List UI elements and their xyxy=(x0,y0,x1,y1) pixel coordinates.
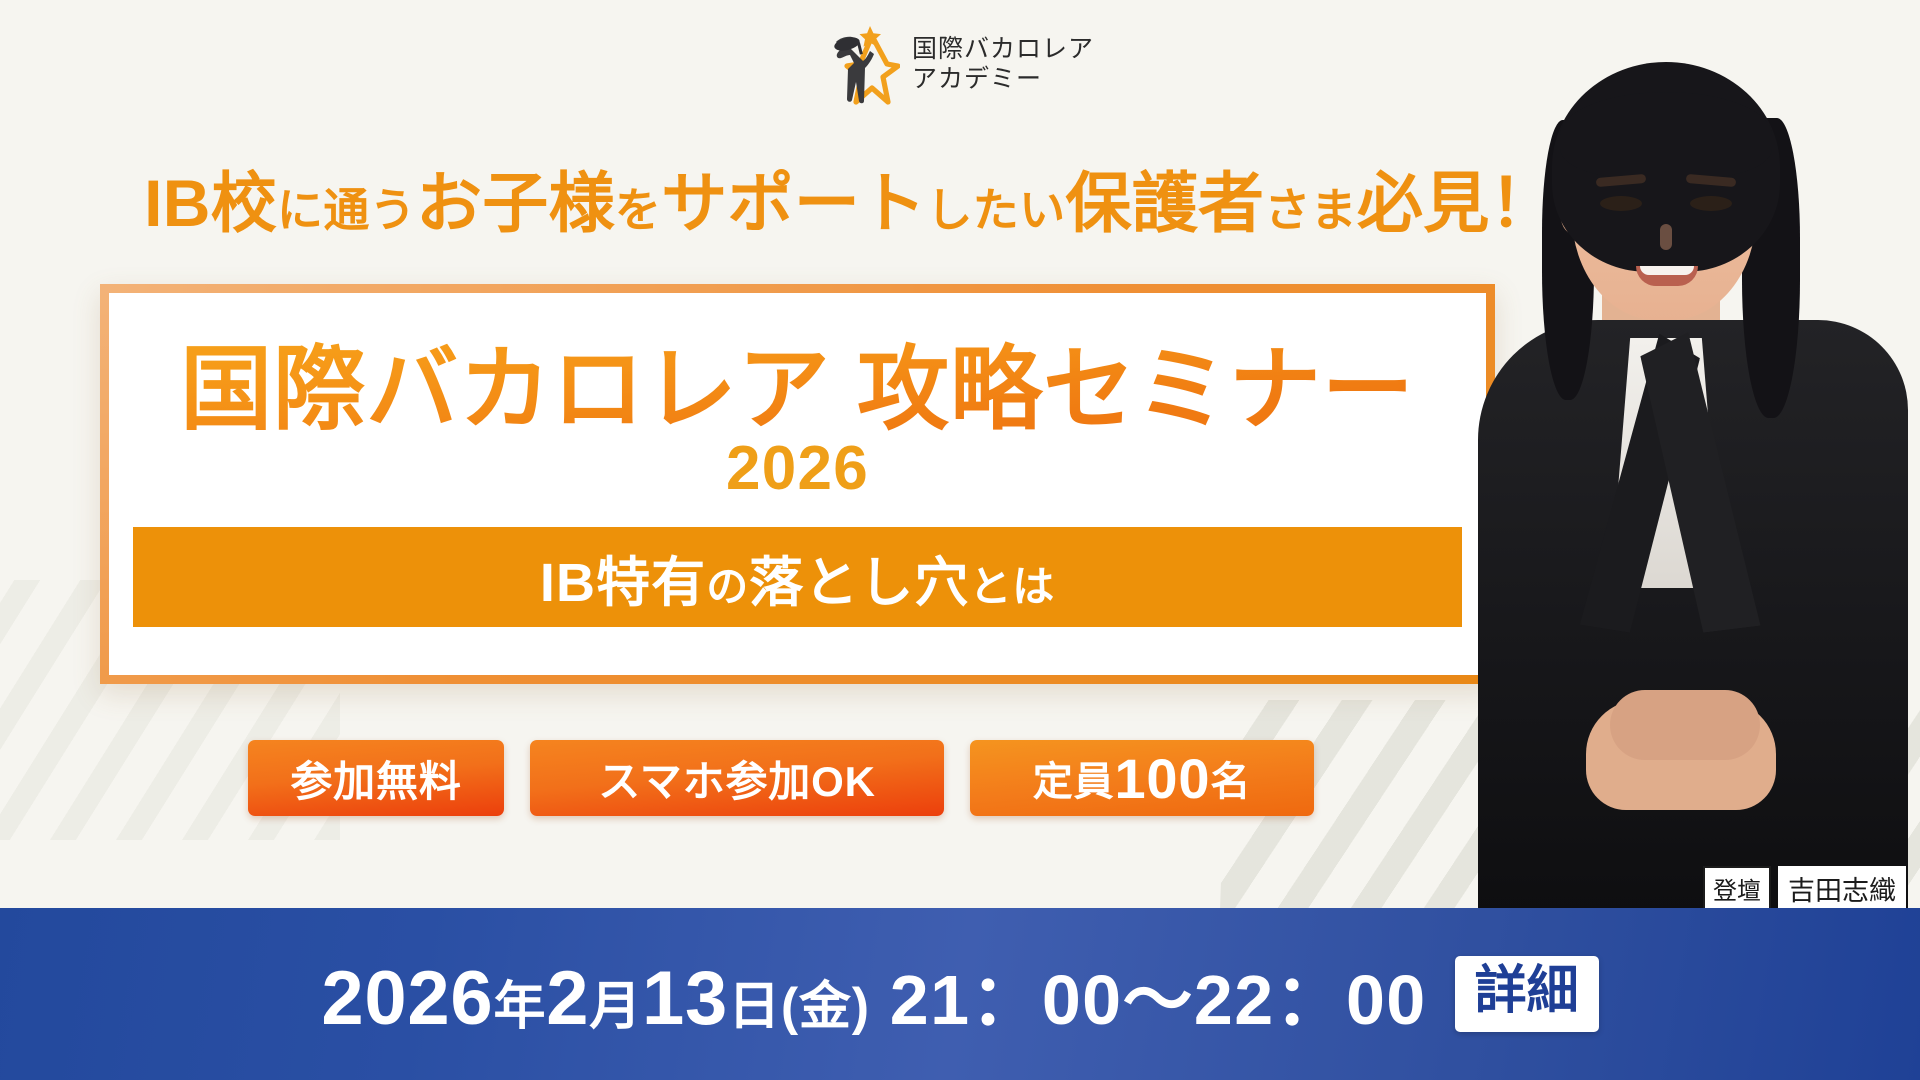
seminar-subtitle-band: IB特有の落とし穴とは xyxy=(133,527,1462,627)
subtitle-part-1: IB特有 xyxy=(540,553,706,613)
badge-capacity-number: 100 xyxy=(1114,746,1210,811)
badge-smartphone-ok: スマホ参加OK xyxy=(530,740,944,816)
event-month-unit: 月 xyxy=(589,964,642,1039)
headline-part-5: サポート xyxy=(661,166,926,240)
brand-name-line2: アカデミー xyxy=(912,64,1094,95)
speaker-role-label: 登壇 xyxy=(1703,866,1771,908)
speaker-name-tag: 登壇 吉田志織 xyxy=(1703,866,1906,908)
star-graduate-icon xyxy=(826,22,900,106)
seminar-title: 国際バカロレア 攻略セミナー xyxy=(109,315,1486,448)
headline-part-6: したい xyxy=(926,184,1065,236)
seminar-year: 2026 xyxy=(109,433,1486,504)
event-time: 21：00〜22：00 xyxy=(890,944,1427,1045)
event-month: 2 xyxy=(546,955,589,1042)
presenter-teeth xyxy=(1640,266,1694,275)
event-year: 2026 xyxy=(321,955,493,1042)
badge-capacity-prefix: 定員 xyxy=(1033,749,1115,807)
headline-part-8: さま xyxy=(1264,184,1357,236)
speaker-name: 吉田志織 xyxy=(1778,866,1906,908)
event-year-unit: 年 xyxy=(493,964,546,1039)
headline-part-7: 保護者 xyxy=(1065,166,1264,240)
subtitle-part-4: とは xyxy=(969,563,1055,610)
event-day-unit: 日 xyxy=(728,964,781,1039)
headline-part-1: IB校 xyxy=(144,166,277,240)
headline-part-4: を xyxy=(615,184,661,236)
presenter-photo: 登壇 吉田志織 xyxy=(1460,0,1920,908)
subtitle-part-3: 落とし穴 xyxy=(749,553,969,613)
event-datetime-text: 2026年2月13日(金)21：00〜22：00 xyxy=(321,944,1426,1045)
feature-badge-row: 参加無料 スマホ参加OK 定員100名 xyxy=(248,740,1314,816)
headline-part-3: お子様 xyxy=(416,166,615,240)
headline-part-2: に通う xyxy=(277,184,416,236)
badge-capacity: 定員100名 xyxy=(970,740,1314,816)
brand-logo-text: 国際バカロレア アカデミー xyxy=(912,34,1094,95)
badge-free-entry-label: 参加無料 xyxy=(290,748,461,809)
brand-logo[interactable]: 国際バカロレア アカデミー xyxy=(0,22,1920,106)
banner-headline: IB校に通うお子様をサポートしたい保護者さま必見！ xyxy=(0,150,1700,246)
badge-free-entry: 参加無料 xyxy=(248,740,504,816)
detail-button[interactable]: 詳細 xyxy=(1455,956,1599,1032)
badge-smartphone-ok-label: スマホ参加OK xyxy=(598,748,876,809)
headline-part-9: 必見！ xyxy=(1357,166,1556,240)
event-datetime-bar: 2026年2月13日(金)21：00〜22：00 詳細 xyxy=(0,908,1920,1080)
event-day: 13 xyxy=(642,955,728,1042)
seminar-title-card: 国際バカロレア 攻略セミナー 2026 IB特有の落とし穴とは xyxy=(100,284,1495,684)
presenter-hand-upper xyxy=(1610,690,1760,760)
badge-capacity-suffix: 名 xyxy=(1210,749,1251,807)
event-weekday: (金) xyxy=(781,964,870,1039)
brand-name-line1: 国際バカロレア xyxy=(912,34,1094,65)
subtitle-part-2: の xyxy=(706,563,749,610)
